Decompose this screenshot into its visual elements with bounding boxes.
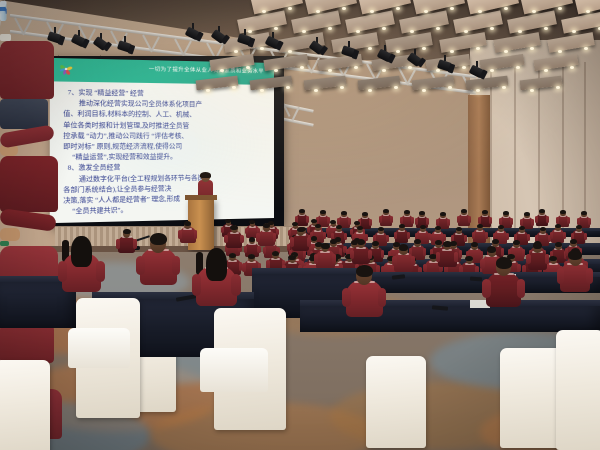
person-arm — [468, 216, 471, 222]
ceiling-downlight — [504, 7, 508, 10]
person-hair — [503, 211, 509, 215]
ceiling-downlight — [316, 10, 320, 13]
person-white-skirt — [68, 328, 130, 368]
ceiling-downlight — [572, 30, 576, 33]
ceiling-downlight — [396, 7, 400, 10]
person-arm — [478, 217, 481, 223]
person-arm — [306, 216, 309, 222]
person-arm — [390, 216, 393, 222]
person-arm — [256, 233, 260, 242]
person-arm — [224, 235, 228, 244]
person-arm — [242, 263, 246, 271]
person-arm — [464, 235, 467, 242]
person-arm — [577, 218, 580, 224]
person-arm — [231, 274, 241, 296]
person-arm — [257, 246, 260, 254]
ceiling-downlight — [450, 7, 454, 10]
ceiling-downlight — [368, 47, 372, 50]
person-arm — [411, 217, 414, 223]
ceiling-downlight — [586, 10, 590, 13]
person-arm — [459, 250, 462, 258]
person-hair — [581, 211, 587, 215]
ceiling-downlight — [248, 30, 252, 33]
person-arm — [535, 216, 538, 222]
person-arm — [348, 218, 351, 224]
person-hair — [356, 265, 373, 277]
ceiling-downlight — [370, 10, 374, 13]
ceiling-downlight — [464, 30, 468, 33]
person-arm — [527, 234, 530, 241]
person-hair — [404, 210, 410, 214]
ceiling-downlight — [382, 27, 386, 30]
person-arm — [116, 239, 120, 248]
person-arm — [386, 235, 389, 242]
person-arm — [276, 229, 279, 236]
person-arm — [588, 218, 591, 224]
person-arm — [489, 217, 492, 223]
ceiling-downlight — [424, 10, 428, 13]
person-arm — [392, 256, 396, 266]
person-hair — [248, 254, 255, 259]
person-arm — [415, 218, 418, 224]
person-hair — [341, 211, 347, 215]
person-arm — [480, 259, 485, 270]
person-arm — [411, 256, 415, 266]
person-arm — [194, 230, 198, 238]
person-arm — [556, 217, 559, 223]
person-torso-lower — [0, 156, 58, 212]
ceiling-downlight — [288, 7, 292, 10]
person-arm — [526, 254, 530, 264]
person-arm — [546, 216, 549, 222]
person-arm — [314, 254, 318, 264]
person-arm — [332, 254, 336, 264]
ceiling-downlight — [234, 50, 238, 53]
ceiling-downlight — [490, 27, 494, 30]
person-arm — [485, 232, 488, 239]
person-hair — [229, 253, 236, 258]
person-arm — [454, 252, 458, 262]
person-arm — [307, 237, 311, 246]
person-arm — [378, 288, 387, 308]
person-hair — [249, 237, 255, 242]
person-arm — [136, 256, 145, 276]
ceiling-downlight — [302, 30, 306, 33]
ceiling-downlight — [328, 27, 332, 30]
person-white-skirt — [200, 348, 268, 392]
mobile-phone — [470, 277, 482, 282]
ceiling-downlight — [532, 10, 536, 13]
person-arm — [365, 234, 368, 241]
person-arm — [567, 217, 570, 223]
person-arm — [273, 233, 277, 242]
person-arm — [244, 246, 247, 254]
person-hair-long — [71, 236, 92, 267]
person-hair — [435, 240, 442, 245]
earphone-case — [0, 34, 11, 41]
person-hair — [513, 240, 520, 245]
person-hair — [560, 210, 566, 214]
person-arm — [178, 230, 182, 238]
person-arm — [337, 218, 340, 224]
person-hair — [496, 257, 512, 269]
ceiling-downlight — [558, 50, 562, 53]
ceiling-downlight — [356, 30, 360, 33]
person-hair — [482, 210, 488, 214]
person-hair — [539, 209, 545, 213]
person-hair — [184, 221, 191, 226]
person-hair — [330, 239, 337, 244]
person-arm — [342, 288, 351, 308]
person-hair — [443, 241, 452, 247]
ceiling-downlight — [436, 27, 440, 30]
person-arm — [531, 219, 534, 225]
person-arm — [96, 261, 105, 282]
ceiling-downlight — [260, 47, 264, 50]
ceiling-downlight — [410, 30, 414, 33]
person-arm — [133, 239, 137, 248]
person-hair — [321, 243, 330, 249]
person-hair — [414, 239, 421, 244]
ceiling-downlight — [584, 47, 588, 50]
person-hair — [123, 229, 131, 235]
person-hair — [570, 239, 577, 244]
person-arm — [58, 261, 67, 282]
person-arm — [499, 218, 502, 224]
person-arm — [501, 248, 504, 256]
person-hair — [533, 242, 542, 248]
person-arm — [457, 216, 460, 222]
person-arm — [436, 252, 440, 262]
person-hair — [461, 209, 467, 213]
person-hair — [311, 236, 317, 241]
person-arm — [369, 219, 372, 225]
ceiling-downlight — [478, 10, 482, 13]
person-arm — [510, 218, 513, 224]
ceiling-downlight — [476, 47, 480, 50]
ceiling-downlight — [262, 10, 266, 13]
person-hair-long — [206, 248, 228, 281]
person-arm — [423, 248, 426, 256]
person-hair — [297, 227, 305, 233]
person-hair — [230, 225, 237, 230]
conference-hall-photo: 一切为了提升全体从业人员的素质和业务水平 7、实现 “精益经营” 经营推动深化经… — [0, 0, 600, 450]
person-arm — [482, 279, 490, 298]
ceiling-downlight — [422, 47, 426, 50]
person-arm — [323, 232, 326, 239]
ceiling-downlight — [518, 30, 522, 33]
person-arm — [290, 237, 294, 246]
person-arm — [344, 233, 347, 240]
person-hair — [357, 239, 365, 245]
person-arm — [430, 234, 433, 241]
audience-member — [62, 240, 69, 262]
person-arm — [400, 217, 403, 223]
person-hair — [362, 212, 368, 216]
person-arm — [263, 247, 266, 255]
person-arm — [517, 264, 521, 273]
person-hair — [524, 212, 530, 216]
person-arm — [172, 256, 181, 276]
person-hair — [299, 209, 305, 213]
person-arm — [522, 249, 525, 257]
person-hair — [555, 242, 562, 247]
person-arm — [557, 268, 564, 284]
person-hair — [549, 256, 556, 261]
chair-with-cover — [0, 360, 50, 450]
person-hair — [399, 244, 408, 250]
person-hair — [465, 256, 472, 261]
ceiling-downlight — [274, 27, 278, 30]
person-hair — [320, 210, 326, 214]
person-arm — [245, 228, 248, 235]
bottle-label — [0, 7, 6, 11]
person-hair — [150, 233, 167, 245]
person-hair — [383, 209, 389, 213]
person-arm — [584, 233, 587, 240]
person-arm — [350, 250, 354, 260]
person-arm — [436, 219, 439, 225]
person-hair — [471, 242, 478, 247]
person-arm — [192, 274, 202, 296]
person-arm — [586, 268, 593, 284]
person-torso-lower — [0, 41, 54, 99]
table-skirt — [300, 306, 600, 332]
person-hand — [0, 228, 20, 241]
person-arm — [368, 250, 372, 260]
person-arm — [520, 219, 523, 225]
audience-member — [196, 252, 203, 275]
person-arm — [447, 219, 450, 225]
person-arm — [379, 216, 382, 222]
ceiling-downlight — [342, 7, 346, 10]
person-hair — [492, 239, 499, 244]
person-jeans — [0, 99, 48, 129]
person-arm — [381, 250, 384, 258]
ceiling-downlight — [504, 50, 508, 53]
person-arm — [517, 279, 525, 298]
person-hair — [419, 211, 425, 215]
person-arm — [550, 232, 553, 239]
person-hair — [568, 250, 582, 260]
ceiling-downlight — [288, 50, 292, 53]
chair-with-cover — [556, 330, 600, 450]
person-arm — [288, 230, 291, 237]
person-arm — [394, 232, 397, 239]
person-arm — [506, 233, 509, 240]
person-arm — [426, 218, 429, 224]
person-arm — [407, 232, 410, 239]
person-hair — [288, 255, 295, 260]
person-arm — [326, 228, 329, 235]
person-hair — [272, 251, 279, 256]
person-arm — [221, 227, 224, 234]
person-arm — [545, 254, 549, 264]
person-hair — [372, 241, 379, 246]
chair-with-cover — [366, 356, 426, 448]
ceiling-downlight — [450, 50, 454, 53]
ceiling-downlight — [558, 7, 562, 10]
person-arm — [423, 264, 427, 273]
ceiling-downlight — [530, 47, 534, 50]
ceiling-downlight — [396, 50, 400, 53]
person-arm — [240, 235, 244, 244]
person-arm — [472, 232, 475, 239]
person-arm — [563, 232, 566, 239]
person-hair — [440, 212, 446, 216]
ceiling-downlight — [544, 27, 548, 30]
